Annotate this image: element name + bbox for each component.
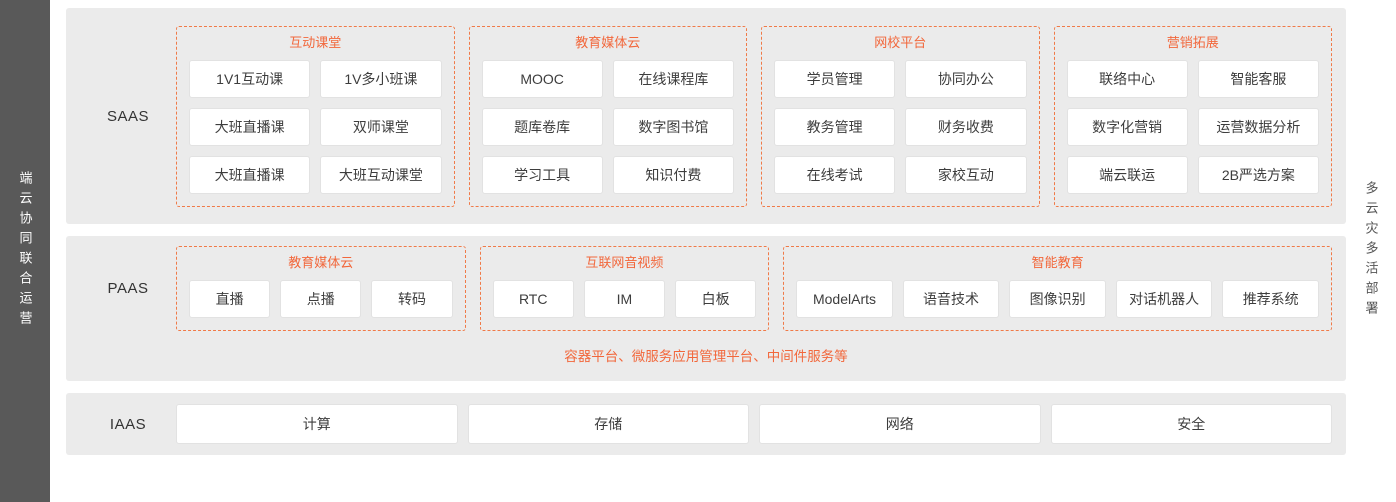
tile[interactable]: 协同办公 bbox=[905, 60, 1026, 98]
tile[interactable]: 存储 bbox=[468, 404, 750, 444]
left-rail: 端云协同联合运营 bbox=[0, 0, 50, 502]
tile[interactable]: 数字化营销 bbox=[1067, 108, 1188, 146]
band-label-paas: PAAS bbox=[80, 280, 176, 297]
tile[interactable]: 学习工具 bbox=[482, 156, 603, 194]
tile[interactable]: 大班直播课 bbox=[189, 108, 310, 146]
iaas-tiles: 计算 存储 网络 安全 bbox=[176, 404, 1332, 444]
paas-groups: 教育媒体云 直播 点播 转码 互联网音视频 RTC IM 白板 bbox=[176, 246, 1332, 331]
tile[interactable]: 大班直播课 bbox=[189, 156, 310, 194]
tile[interactable]: 1V1互动课 bbox=[189, 60, 310, 98]
band-paas: PAAS 教育媒体云 直播 点播 转码 互联网音视频 RTC bbox=[66, 236, 1346, 381]
tile[interactable]: 数字图书馆 bbox=[613, 108, 734, 146]
group-title: 互动课堂 bbox=[189, 35, 442, 51]
tile-grid: 直播 点播 转码 bbox=[189, 280, 453, 318]
group-title: 营销拓展 bbox=[1067, 35, 1320, 51]
group-saas-4: 营销拓展 联络中心 智能客服 数字化营销 运营数据分析 端云联运 2B严选方案 bbox=[1054, 26, 1333, 207]
group-paas-3: 智能教育 ModelArts 语音技术 图像识别 对话机器人 推荐系统 bbox=[783, 246, 1332, 331]
left-rail-label: 端云协同联合运营 bbox=[19, 171, 32, 331]
group-title: 教育媒体云 bbox=[189, 255, 453, 271]
tile[interactable]: 计算 bbox=[176, 404, 458, 444]
paas-footnote: 容器平台、微服务应用管理平台、中间件服务等 bbox=[80, 331, 1332, 373]
tile[interactable]: 学员管理 bbox=[774, 60, 895, 98]
tile[interactable]: 直播 bbox=[189, 280, 270, 318]
group-paas-2: 互联网音视频 RTC IM 白板 bbox=[480, 246, 770, 331]
tile-grid: 学员管理 协同办公 教务管理 财务收费 在线考试 家校互动 bbox=[774, 60, 1027, 194]
tile[interactable]: 家校互动 bbox=[905, 156, 1026, 194]
tile[interactable]: 在线考试 bbox=[774, 156, 895, 194]
tile[interactable]: MOOC bbox=[482, 60, 603, 98]
tile[interactable]: 联络中心 bbox=[1067, 60, 1188, 98]
tile[interactable]: IM bbox=[584, 280, 665, 318]
tile[interactable]: 财务收费 bbox=[905, 108, 1026, 146]
tile[interactable]: 推荐系统 bbox=[1222, 280, 1319, 318]
right-rail-label: 多云灾多活部署 bbox=[1365, 181, 1378, 321]
tile[interactable]: 2B严选方案 bbox=[1198, 156, 1319, 194]
tile[interactable]: 双师课堂 bbox=[320, 108, 441, 146]
tile[interactable]: ModelArts bbox=[796, 280, 893, 318]
paas-row: PAAS 教育媒体云 直播 点播 转码 互联网音视频 RTC bbox=[80, 246, 1332, 331]
group-title: 智能教育 bbox=[796, 255, 1319, 271]
group-title: 网校平台 bbox=[774, 35, 1027, 51]
group-title: 教育媒体云 bbox=[482, 35, 735, 51]
band-iaas: IAAS 计算 存储 网络 安全 bbox=[66, 393, 1346, 455]
band-label-saas: SAAS bbox=[80, 108, 176, 125]
tile[interactable]: 图像识别 bbox=[1009, 280, 1106, 318]
tile[interactable]: 语音技术 bbox=[903, 280, 1000, 318]
tile[interactable]: 网络 bbox=[759, 404, 1041, 444]
tile[interactable]: 端云联运 bbox=[1067, 156, 1188, 194]
group-saas-2: 教育媒体云 MOOC 在线课程库 题库卷库 数字图书馆 学习工具 知识付费 bbox=[469, 26, 748, 207]
tile[interactable]: 运营数据分析 bbox=[1198, 108, 1319, 146]
tile[interactable]: 白板 bbox=[675, 280, 756, 318]
left-gap bbox=[50, 0, 66, 502]
band-saas: SAAS 互动课堂 1V1互动课 1V多小班课 大班直播课 双师课堂 大班直播课… bbox=[66, 8, 1346, 224]
tile[interactable]: 题库卷库 bbox=[482, 108, 603, 146]
tile[interactable]: 点播 bbox=[280, 280, 361, 318]
tile-grid: ModelArts 语音技术 图像识别 对话机器人 推荐系统 bbox=[796, 280, 1319, 318]
group-paas-1: 教育媒体云 直播 点播 转码 bbox=[176, 246, 466, 331]
tile[interactable]: 在线课程库 bbox=[613, 60, 734, 98]
group-saas-3: 网校平台 学员管理 协同办公 教务管理 财务收费 在线考试 家校互动 bbox=[761, 26, 1040, 207]
tile[interactable]: 智能客服 bbox=[1198, 60, 1319, 98]
tile[interactable]: 对话机器人 bbox=[1116, 280, 1213, 318]
tile[interactable]: 教务管理 bbox=[774, 108, 895, 146]
group-saas-1: 互动课堂 1V1互动课 1V多小班课 大班直播课 双师课堂 大班直播课 大班互动… bbox=[176, 26, 455, 207]
architecture-diagram: 端云协同联合运营 SAAS 互动课堂 1V1互动课 1V多小班课 大班直播课 双… bbox=[0, 0, 1396, 502]
tile-grid: 联络中心 智能客服 数字化营销 运营数据分析 端云联运 2B严选方案 bbox=[1067, 60, 1320, 194]
group-title: 互联网音视频 bbox=[493, 255, 757, 271]
tile[interactable]: 知识付费 bbox=[613, 156, 734, 194]
tile-grid: MOOC 在线课程库 题库卷库 数字图书馆 学习工具 知识付费 bbox=[482, 60, 735, 194]
tile-grid: 1V1互动课 1V多小班课 大班直播课 双师课堂 大班直播课 大班互动课堂 bbox=[189, 60, 442, 194]
saas-groups: 互动课堂 1V1互动课 1V多小班课 大班直播课 双师课堂 大班直播课 大班互动… bbox=[176, 26, 1332, 207]
tile[interactable]: 转码 bbox=[371, 280, 452, 318]
tile[interactable]: 大班互动课堂 bbox=[320, 156, 441, 194]
right-rail: 多云灾多活部署 bbox=[1346, 0, 1396, 502]
tile[interactable]: 1V多小班课 bbox=[320, 60, 441, 98]
tile[interactable]: RTC bbox=[493, 280, 574, 318]
tile-grid: RTC IM 白板 bbox=[493, 280, 757, 318]
band-label-iaas: IAAS bbox=[80, 416, 176, 433]
layer-stack: SAAS 互动课堂 1V1互动课 1V多小班课 大班直播课 双师课堂 大班直播课… bbox=[66, 0, 1346, 502]
tile[interactable]: 安全 bbox=[1051, 404, 1333, 444]
